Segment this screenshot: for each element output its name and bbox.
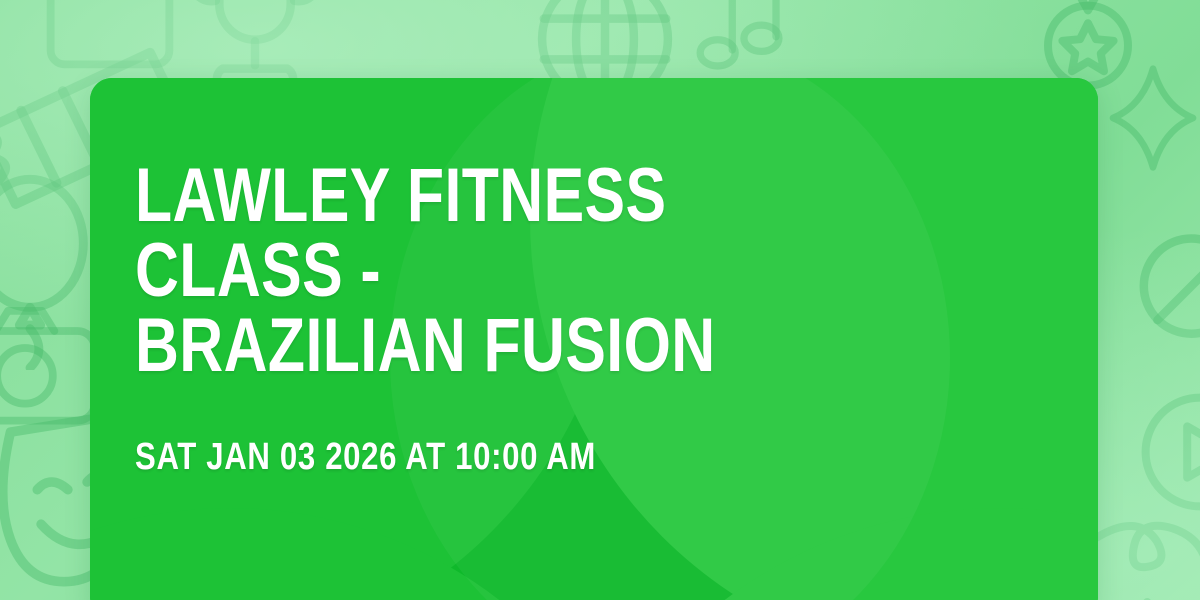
card-petal-bottom-right <box>550 508 1098 600</box>
event-banner: Lawley Fitness Class - Brazilian Fusion … <box>0 0 1200 600</box>
play-circle-icon <box>1120 372 1200 532</box>
microphone-icon <box>1120 220 1200 410</box>
music-note-icon <box>676 0 806 82</box>
sparkle-icon <box>1094 490 1200 600</box>
sparkle-icon <box>1098 58 1200 178</box>
card-petal-bottom-left <box>90 508 670 600</box>
calendar-icon <box>30 0 190 80</box>
event-card[interactable]: Lawley Fitness Class - Brazilian Fusion … <box>90 78 1098 600</box>
event-datetime: Sat Jan 03 2026 at 10:00 AM <box>135 384 892 479</box>
event-card-content: Lawley Fitness Class - Brazilian Fusion … <box>135 158 1058 479</box>
event-title: Lawley Fitness Class - Brazilian Fusion <box>135 158 873 384</box>
